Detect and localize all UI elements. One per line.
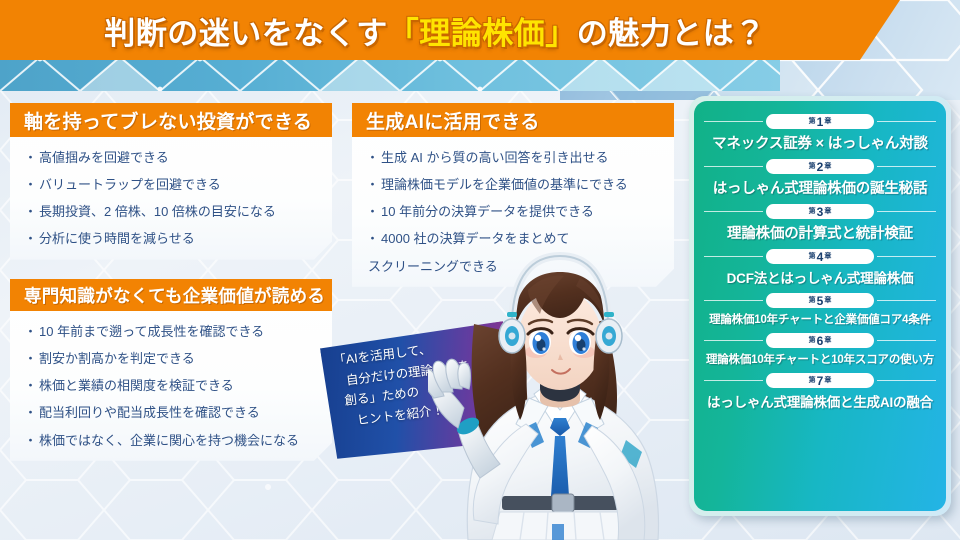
list-item: ・高値掴みを回避できる	[24, 148, 320, 168]
chapter-badge-row: 第4章	[704, 249, 936, 264]
chapter-badge-row: 第5章	[704, 293, 936, 308]
list-item: ・長期投資、2 倍株、10 倍株の目安になる	[24, 202, 320, 222]
chapter-title: マネックス証券 × はっしゃん対談	[704, 132, 936, 153]
badge-prefix: 第	[809, 297, 816, 304]
list-item: ・割安か割高かを判定できる	[24, 349, 320, 369]
badge-number: 2	[817, 161, 824, 173]
chapter-item[interactable]: 第5章 理論株価10年チャートと企業価値コア4条件	[704, 289, 936, 327]
card-bullet-list: ・高値掴みを回避できる ・バリュートラップを回避できる ・長期投資、2 倍株、1…	[10, 137, 332, 260]
assistant-character-illustration	[428, 228, 698, 540]
chapter-number-badge: 第5章	[766, 293, 874, 308]
list-item-label: 割安か割高かを判定できる	[39, 349, 320, 369]
list-item: ・バリュートラップを回避できる	[24, 175, 320, 195]
chapter-number-badge: 第3章	[766, 204, 874, 219]
badge-suffix: 章	[824, 253, 831, 260]
badge-suffix: 章	[824, 377, 831, 384]
bullet-marker-icon: ・	[24, 322, 37, 342]
badge-rule-right	[877, 256, 936, 257]
chapter-title: はっしゃん式理論株価の誕生秘話	[704, 177, 936, 198]
chapter-item[interactable]: 第2章 はっしゃん式理論株価の誕生秘話	[704, 155, 936, 198]
card-heading: 専門知識がなくても企業価値が読める	[10, 279, 332, 311]
chapter-number-badge: 第7章	[766, 373, 874, 388]
badge-suffix: 章	[824, 118, 831, 125]
chapter-badge-row: 第2章	[704, 159, 936, 174]
list-item-label: 長期投資、2 倍株、10 倍株の目安になる	[39, 202, 320, 222]
list-item-label: 生成 AI から質の高い回答を引き出せる	[381, 148, 662, 168]
badge-prefix: 第	[809, 118, 816, 125]
title-banner: 判断の迷いをなくす「理論株価」の魅力とは？	[0, 0, 900, 60]
badge-rule-left	[704, 256, 763, 257]
list-item-label: バリュートラップを回避できる	[39, 175, 320, 195]
bullet-marker-icon: ・	[24, 175, 37, 195]
slide-canvas: 判断の迷いをなくす「理論株価」の魅力とは？ 軸を持ってブレない投資ができる ・高…	[0, 0, 960, 540]
badge-rule-left	[704, 121, 763, 122]
badge-rule-right	[877, 121, 936, 122]
chapter-badge-row: 第1章	[704, 114, 936, 129]
bullet-marker-icon: ・	[24, 349, 37, 369]
banner-underline-strip	[0, 57, 780, 91]
list-item-label: 理論株価モデルを企業価値の基準にできる	[381, 175, 662, 195]
chapter-list-panel: 第1章 マネックス証券 × はっしゃん対談 第2章 はっしゃん式理論株価の誕生秘…	[689, 96, 951, 516]
benefit-card-no-expertise: 専門知識がなくても企業価値が読める ・10 年前まで遡って成長性を確認できる ・…	[10, 279, 332, 461]
badge-number: 6	[817, 335, 824, 347]
list-item-label: 分析に使う時間を減らせる	[39, 229, 320, 249]
badge-number: 1	[817, 116, 824, 128]
chapter-title: DCF法とはっしゃん式理論株価	[704, 267, 936, 287]
badge-number: 5	[817, 295, 824, 307]
chapter-item[interactable]: 第4章 DCF法とはっしゃん式理論株価	[704, 245, 936, 287]
list-item: ・配当利回りや配当成長性を確認できる	[24, 403, 320, 423]
bullet-marker-icon: ・	[24, 229, 37, 249]
badge-suffix: 章	[824, 163, 831, 170]
badge-suffix: 章	[824, 208, 831, 215]
chapter-number-badge: 第6章	[766, 333, 874, 348]
badge-rule-left	[704, 211, 763, 212]
badge-suffix: 章	[824, 337, 831, 344]
chapter-badge-row: 第3章	[704, 204, 936, 219]
bullet-marker-icon: ・	[24, 431, 37, 451]
badge-rule-left	[704, 300, 763, 301]
chapter-title: はっしゃん式理論株価と生成AIの融合	[704, 391, 936, 411]
badge-prefix: 第	[809, 377, 816, 384]
list-item: ・10 年前まで遡って成長性を確認できる	[24, 322, 320, 342]
bullet-marker-icon: ・	[24, 403, 37, 423]
badge-prefix: 第	[809, 337, 816, 344]
badge-prefix: 第	[809, 208, 816, 215]
bullet-marker-icon: ・	[366, 175, 379, 195]
title-part-2: の魅力とは？	[577, 8, 766, 53]
chapter-panel-body: 第1章 マネックス証券 × はっしゃん対談 第2章 はっしゃん式理論株価の誕生秘…	[694, 101, 946, 511]
list-item: ・株価ではなく、企業に関心を持つ機会になる	[24, 431, 320, 451]
chapter-item[interactable]: 第6章 理論株価10年チャートと10年スコアの使い方	[704, 329, 936, 367]
badge-rule-right	[877, 380, 936, 381]
badge-rule-left	[704, 380, 763, 381]
bullet-marker-icon: ・	[24, 376, 37, 396]
chapter-item[interactable]: 第3章 理論株価の計算式と統計検証	[704, 200, 936, 243]
list-item-label: 配当利回りや配当成長性を確認できる	[39, 403, 320, 423]
badge-rule-left	[704, 340, 763, 341]
card-bullet-list: ・10 年前まで遡って成長性を確認できる ・割安か割高かを判定できる ・株価と業…	[10, 311, 332, 461]
list-item: ・10 年前分の決算データを提供できる	[366, 202, 662, 222]
badge-number: 3	[817, 206, 824, 218]
bullet-marker-icon: ・	[24, 202, 37, 222]
chapter-number-badge: 第1章	[766, 114, 874, 129]
list-item-label: 10 年前まで遡って成長性を確認できる	[39, 322, 320, 342]
chapter-title: 理論株価の計算式と統計検証	[704, 222, 936, 243]
bullet-marker-icon: ・	[366, 148, 379, 168]
badge-rule-right	[877, 211, 936, 212]
title-highlight: 「理論株価」	[388, 8, 577, 53]
list-item-label: 株価と業績の相関度を検証できる	[39, 376, 320, 396]
badge-number: 7	[817, 375, 824, 387]
list-item: ・理論株価モデルを企業価値の基準にできる	[366, 175, 662, 195]
chapter-item[interactable]: 第7章 はっしゃん式理論株価と生成AIの融合	[704, 369, 936, 411]
list-item: ・分析に使う時間を減らせる	[24, 229, 320, 249]
badge-rule-right	[877, 300, 936, 301]
card-heading: 軸を持ってブレない投資ができる	[10, 103, 332, 137]
list-item: ・株価と業績の相関度を検証できる	[24, 376, 320, 396]
badge-rule-right	[877, 340, 936, 341]
badge-rule-left	[704, 166, 763, 167]
list-item: ・生成 AI から質の高い回答を引き出せる	[366, 148, 662, 168]
chapter-number-badge: 第2章	[766, 159, 874, 174]
title-part-1: 判断の迷いをなくす	[104, 8, 388, 53]
chapter-title: 理論株価10年チャートと企業価値コア4条件	[704, 311, 936, 327]
bullet-marker-icon: ・	[366, 229, 379, 249]
chapter-badge-row: 第7章	[704, 373, 936, 388]
page-title: 判断の迷いをなくす「理論株価」の魅力とは？	[0, 0, 870, 60]
badge-number: 4	[817, 251, 824, 263]
badge-prefix: 第	[809, 253, 816, 260]
card-heading: 生成AIに活用できる	[352, 103, 674, 137]
badge-prefix: 第	[809, 163, 816, 170]
benefit-card-investment: 軸を持ってブレない投資ができる ・高値掴みを回避できる ・バリュートラップを回避…	[10, 103, 332, 260]
bullet-marker-icon: ・	[24, 148, 37, 168]
badge-rule-right	[877, 166, 936, 167]
chapter-number-badge: 第4章	[766, 249, 874, 264]
badge-suffix: 章	[824, 297, 831, 304]
bullet-marker-icon: ・	[366, 202, 379, 222]
list-item-label: 株価ではなく、企業に関心を持つ機会になる	[39, 431, 320, 451]
chapter-title: 理論株価10年チャートと10年スコアの使い方	[704, 351, 936, 367]
list-item-label: 10 年前分の決算データを提供できる	[381, 202, 662, 222]
list-item-label: 高値掴みを回避できる	[39, 148, 320, 168]
chapter-badge-row: 第6章	[704, 333, 936, 348]
chapter-item[interactable]: 第1章 マネックス証券 × はっしゃん対談	[704, 110, 936, 153]
